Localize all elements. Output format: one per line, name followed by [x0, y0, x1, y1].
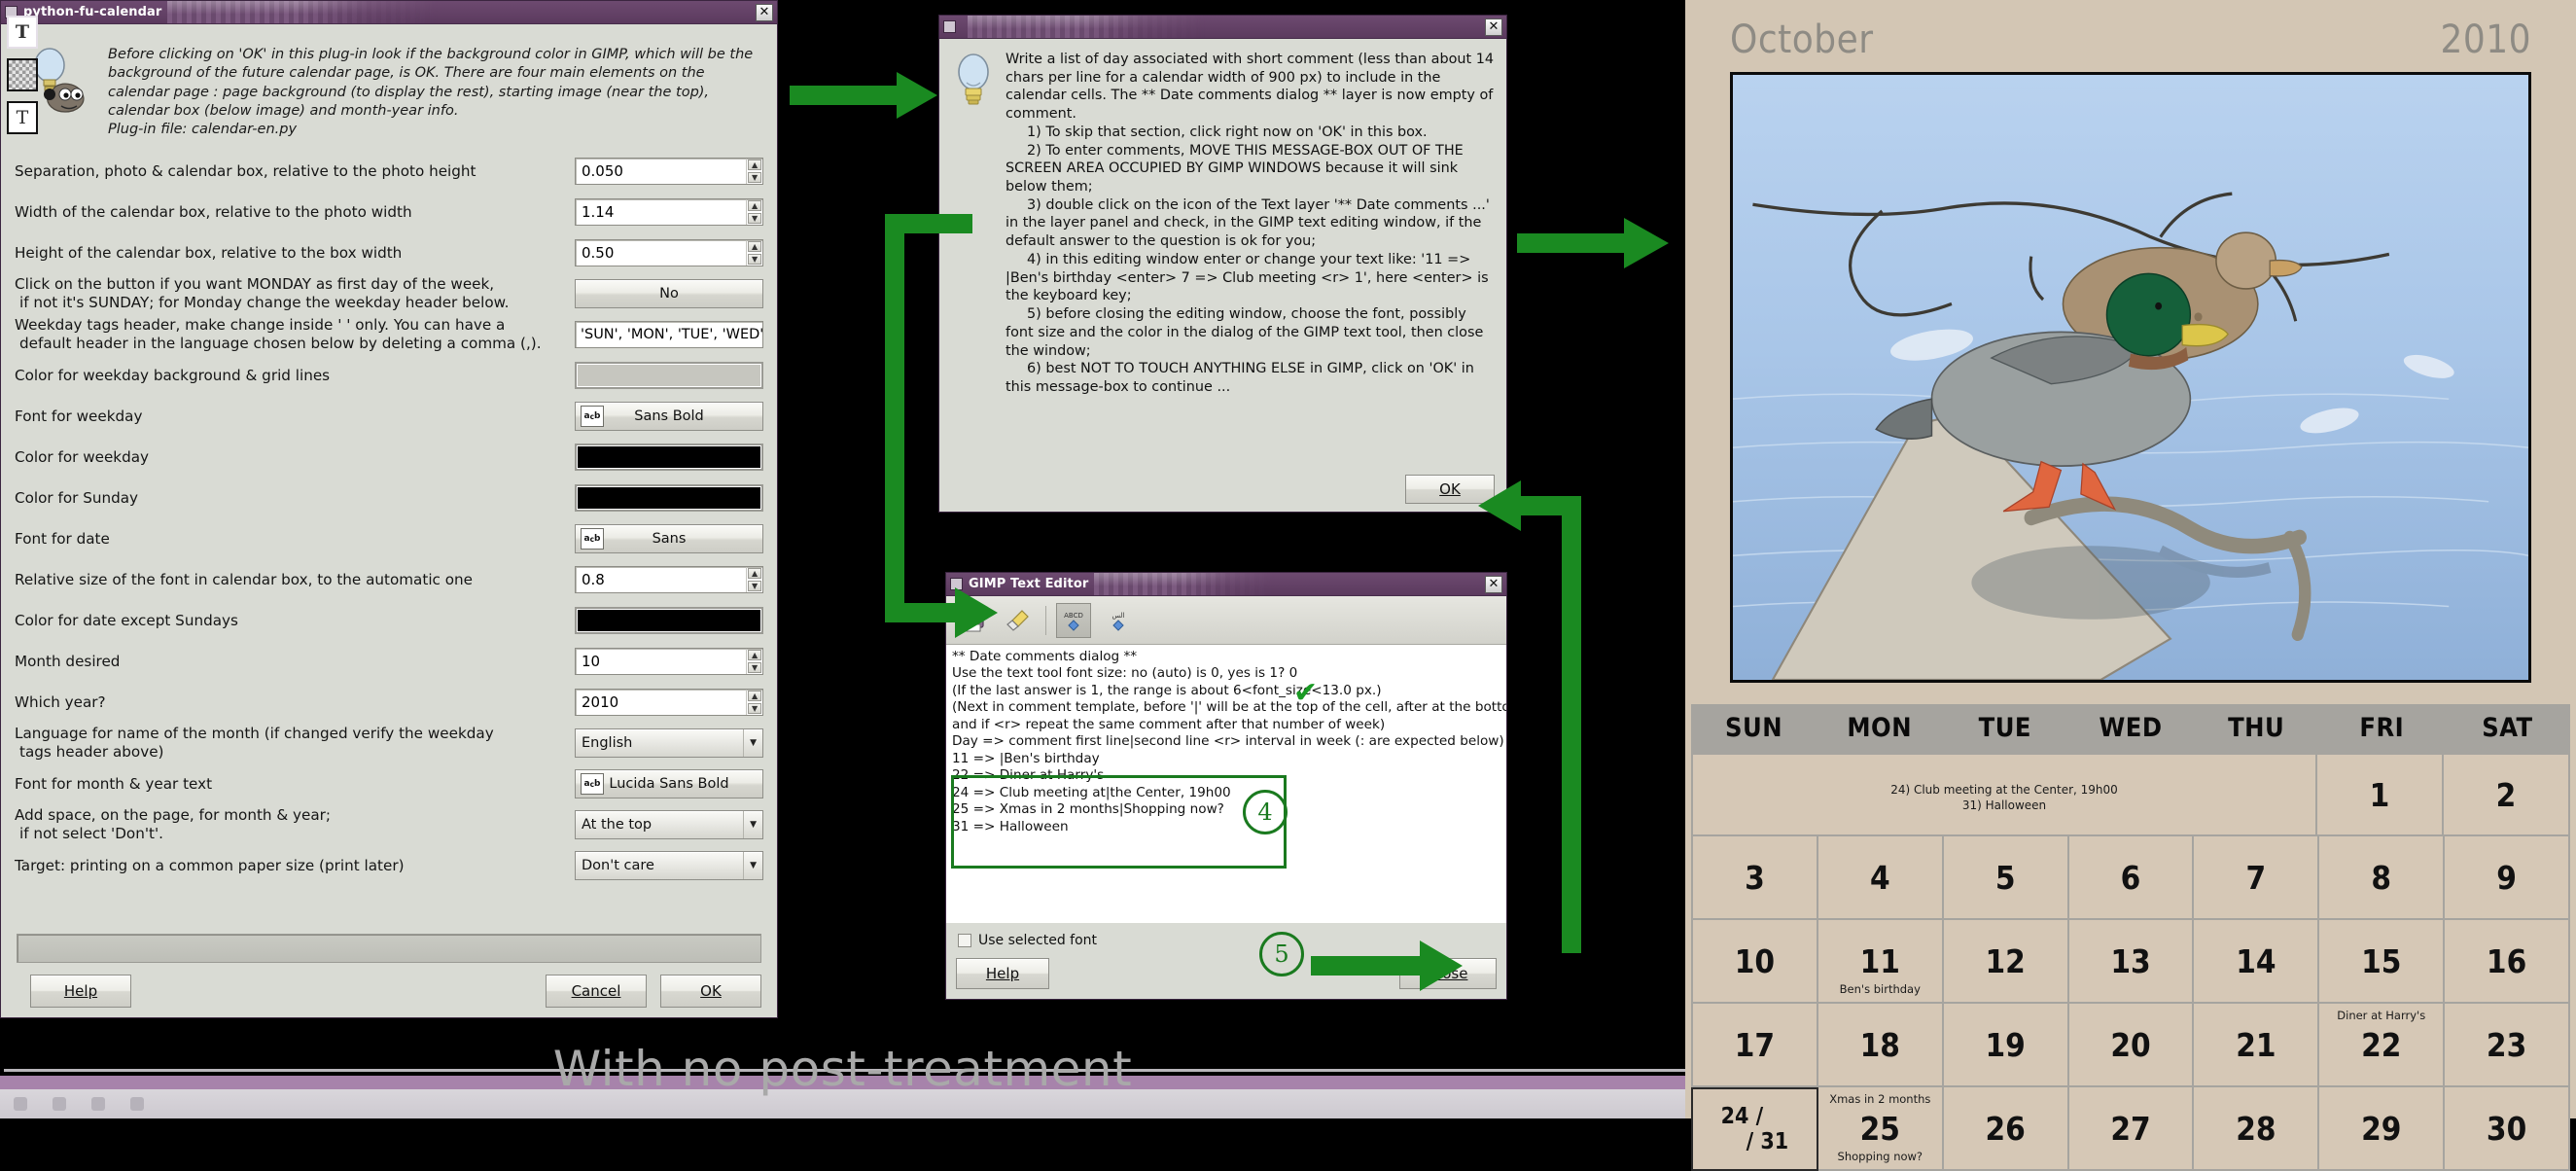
option-label: Click on the button if you want MONDAY a…: [15, 275, 575, 312]
spin-value[interactable]: [576, 690, 746, 715]
calendar-dow-cell: FRI: [2319, 704, 2445, 753]
calendar-day-cell: 10: [1691, 920, 1818, 1004]
option-row: Color for weekday background & grid line…: [15, 357, 763, 394]
option-label: Font for month & year text: [15, 775, 575, 794]
calendar-week-row: 1718192021Diner at Harry's2223: [1691, 1004, 2570, 1087]
calendar-day-number: 21: [2236, 1029, 2276, 1061]
option-row: Height of the calendar box, relative to …: [15, 234, 763, 271]
chevron-down-icon[interactable]: ▼: [743, 811, 757, 838]
figure-caption: With no post-treatment: [0, 1018, 1685, 1118]
calendar-week-row: 1011Ben's birthday1213141516: [1691, 920, 2570, 1004]
use-selected-font-checkbox[interactable]: Use selected font: [956, 929, 1497, 958]
calendar-comment-top: Diner at Harry's: [2321, 1010, 2441, 1022]
text-editor-textarea[interactable]: ** Date comments dialog **Use the text t…: [946, 645, 1506, 923]
option-control[interactable]: ▲▼: [575, 239, 763, 266]
spin-input[interactable]: ▲▼: [575, 689, 763, 716]
message-dialog-text: Write a list of day associated with shor…: [1006, 51, 1495, 469]
plugin-dialog-title: python-fu-calendar: [23, 5, 161, 19]
calendar-day-number: 11: [1860, 945, 1900, 977]
option-label: Which year?: [15, 693, 575, 712]
text-editor-help-button[interactable]: Help: [956, 958, 1049, 989]
calendar-week-row: 24) Club meeting at the Center, 19h0031)…: [1691, 753, 2570, 836]
option-row: Target: printing on a common paper size …: [15, 847, 763, 884]
option-control[interactable]: English▼: [575, 728, 763, 758]
window-menu-icon[interactable]: [943, 20, 956, 33]
editor-line: ** Date comments dialog **: [952, 649, 1500, 665]
font-button[interactable]: acbLucida Sans Bold: [575, 769, 763, 798]
option-control[interactable]: acbSans Bold: [575, 402, 763, 431]
layer-thumbnail-icon: [7, 58, 38, 91]
text-editor-help-label: Help: [986, 965, 1019, 982]
spin-input[interactable]: ▲▼: [575, 239, 763, 266]
editor-line: 25 => Xmas in 2 months|Shopping now?: [952, 801, 1500, 818]
option-row: Language for name of the month (if chang…: [15, 725, 763, 762]
close-icon[interactable]: ✕: [1485, 576, 1502, 593]
spin-input[interactable]: ▲▼: [575, 648, 763, 675]
calendar-dow-cell: TUE: [1942, 704, 2067, 753]
ok-button[interactable]: OK: [660, 975, 761, 1008]
progress-bar: [17, 934, 761, 963]
option-label-line2: if not select 'Don't'.: [15, 825, 565, 843]
message-paragraph: Write a list of day associated with shor…: [1006, 51, 1495, 124]
calendar-day-cell: 29: [2319, 1087, 2445, 1171]
plugin-dialog-titlebar[interactable]: python-fu-calendar ✕: [1, 1, 777, 24]
calendar-day-cell: 8: [2319, 836, 2445, 920]
spin-arrows[interactable]: ▲▼: [746, 567, 762, 592]
spin-down-icon[interactable]: ▼: [748, 662, 761, 673]
option-control[interactable]: [575, 362, 763, 389]
option-label: Language for name of the month (if chang…: [15, 725, 575, 762]
option-control[interactable]: [575, 607, 763, 634]
spin-up-icon[interactable]: ▲: [748, 200, 761, 211]
color-swatch[interactable]: [575, 444, 763, 471]
editor-line: (If the last answer is 1, the range is a…: [952, 683, 1500, 699]
calendar-dow-row: SUNMONTUEWEDTHUFRISAT: [1691, 704, 2570, 753]
lightbulb-icon: [951, 51, 996, 107]
step-5-marker: 5: [1259, 932, 1304, 976]
calendar-day-cell: 14: [2194, 920, 2319, 1004]
calendar-day-number: 30: [2487, 1113, 2526, 1145]
calendar-day-number: 19: [1985, 1029, 2025, 1061]
calendar-day-number: 16: [2487, 945, 2526, 977]
spin-value[interactable]: [576, 159, 746, 184]
clear-text-icon[interactable]: [1001, 603, 1036, 638]
message-paragraph: 4) in this editing window enter or chang…: [1006, 251, 1495, 305]
spin-arrows[interactable]: ▲▼: [746, 199, 762, 225]
option-row: Weekday tags header, make change inside …: [15, 316, 763, 353]
option-control[interactable]: ▲▼: [575, 648, 763, 675]
option-control[interactable]: ▲▼: [575, 158, 763, 185]
plugin-intro-block: Before clicking on 'OK' in this plug-in …: [11, 30, 767, 153]
calendar-day-cell: 9: [2445, 836, 2570, 920]
option-control[interactable]: 'SUN', 'MON', 'TUE', 'WED': [575, 321, 763, 348]
option-control[interactable]: At the top▼: [575, 810, 763, 839]
calendar-day-number: 12: [1985, 945, 2025, 977]
help-button[interactable]: Help: [30, 975, 131, 1008]
editor-line: 31 => Halloween: [952, 819, 1500, 835]
calendar-day-cell: 16: [2445, 920, 2570, 1004]
ltr-direction-icon[interactable]: ABCD: [1056, 603, 1091, 638]
option-row: Month desired▲▼: [15, 643, 763, 680]
spin-up-icon[interactable]: ▲: [748, 691, 761, 701]
help-button-label: Help: [64, 982, 97, 1000]
calendar-day-number: 1: [2370, 779, 2390, 811]
cancel-button-label: Cancel: [572, 982, 621, 1000]
spin-value[interactable]: [576, 240, 746, 266]
calendar-dow-cell: MON: [1817, 704, 1942, 753]
calendar-photo: [1730, 72, 2531, 683]
rtl-direction-icon[interactable]: الس: [1101, 603, 1136, 638]
editor-line: 24 => Club meeting at|the Center, 19h00: [952, 785, 1500, 801]
text-t-icon: T: [9, 103, 36, 132]
spin-down-icon[interactable]: ▼: [748, 172, 761, 183]
option-label: Color for Sunday: [15, 489, 575, 508]
calendar-day-cell: 28: [2194, 1087, 2319, 1171]
calendar-overflow-notes: 24) Club meeting at the Center, 19h0031)…: [1890, 782, 2118, 813]
calendar-dow-cell: WED: [2067, 704, 2193, 753]
toggle-button[interactable]: No: [575, 279, 763, 308]
option-control[interactable]: acbLucida Sans Bold: [575, 769, 763, 798]
font-name: Sans: [653, 531, 687, 547]
color-swatch[interactable]: [575, 362, 763, 389]
calendar-header: October 2010: [1685, 0, 2576, 68]
calendar-day-number: 15: [2361, 945, 2401, 977]
plugin-intro-text: Before clicking on 'OK' in this plug-in …: [108, 44, 761, 139]
editor-line: 22 => Diner at Harry's: [952, 767, 1500, 784]
calendar-grid: SUNMONTUEWEDTHUFRISAT 24) Club meeting a…: [1691, 704, 2570, 1171]
spin-up-icon[interactable]: ▲: [748, 650, 761, 660]
calendar-day-cell: 5: [1944, 836, 2069, 920]
calendar-note-line: 24) Club meeting at the Center, 19h00: [1890, 782, 2118, 798]
calendar-result-page: October 2010: [1685, 0, 2576, 1118]
option-label: Height of the calendar box, relative to …: [15, 244, 575, 263]
calendar-year-label: 2010: [2440, 18, 2531, 62]
calendar-day-cell: 4: [1818, 836, 1944, 920]
option-label: Font for date: [15, 530, 575, 549]
dropdown-value: Don't care: [582, 858, 743, 873]
font-name: Sans Bold: [634, 408, 704, 424]
option-row: Which year?▲▼: [15, 684, 763, 721]
calendar-day-cell: Xmas in 2 months25Shopping now?: [1818, 1087, 1944, 1171]
spin-arrows[interactable]: ▲▼: [746, 690, 762, 715]
calendar-day-cell: 2: [2444, 753, 2570, 836]
calendar-day-number: 5: [1995, 862, 2016, 894]
ok-button-label: OK: [700, 982, 722, 1000]
calendar-day-number: 2: [2496, 779, 2517, 811]
calendar-day-cell: 19: [1944, 1004, 2069, 1087]
option-control[interactable]: ▲▼: [575, 198, 763, 226]
spin-arrows[interactable]: ▲▼: [746, 240, 762, 266]
option-label: Separation, photo & calendar box, relati…: [15, 162, 575, 181]
font-icon: acb: [581, 406, 604, 427]
calendar-day-number: 8: [2371, 862, 2391, 894]
spin-arrows[interactable]: ▲▼: [746, 159, 762, 184]
calendar-week-row: 24 // 31Xmas in 2 months25Shopping now?2…: [1691, 1087, 2570, 1171]
spin-input[interactable]: ▲▼: [575, 198, 763, 226]
spin-up-icon[interactable]: ▲: [748, 241, 761, 252]
calendar-day-cell: 11Ben's birthday: [1818, 920, 1944, 1004]
option-row: Add space, on the page, for month & year…: [15, 806, 763, 843]
titlebar-decoration: [968, 16, 1485, 38]
checkbox-box[interactable]: [958, 934, 971, 947]
calendar-day-number: 20: [2110, 1029, 2150, 1061]
calendar-day-cell: 27: [2069, 1087, 2195, 1171]
option-row: Font for dateacbSans: [15, 520, 763, 557]
svg-text:الس: الس: [1112, 612, 1124, 620]
option-control[interactable]: Don't care▼: [575, 851, 763, 880]
svg-text:ABCD: ABCD: [1064, 612, 1083, 620]
calendar-day-number: 17: [1735, 1029, 1775, 1061]
calendar-day-cell: 26: [1944, 1087, 2069, 1171]
message-paragraph: 5) before closing the editing window, ch…: [1006, 305, 1495, 360]
dropdown-value: English: [582, 735, 743, 751]
option-row: Separation, photo & calendar box, relati…: [15, 153, 763, 190]
calendar-comment-bottom: Ben's birthday: [1820, 983, 1940, 996]
chevron-down-icon[interactable]: ▼: [743, 729, 757, 757]
plugin-dialog-actions: Help Cancel OK: [11, 963, 767, 1017]
option-control[interactable]: No: [575, 279, 763, 308]
option-label: Color for weekday: [15, 448, 575, 467]
spin-value[interactable]: [576, 649, 746, 674]
spin-down-icon[interactable]: ▼: [748, 254, 761, 265]
editor-line: 11 => |Ben's birthday: [952, 751, 1500, 767]
calendar-day-cell: 18: [1818, 1004, 1944, 1087]
editor-line: Use the text tool font size: no (auto) i…: [952, 665, 1500, 682]
text-t-icon: T: [9, 18, 36, 47]
spin-down-icon[interactable]: ▼: [748, 213, 761, 224]
toolbar-separator: [1045, 606, 1046, 635]
calendar-day-number: 23: [2487, 1029, 2526, 1061]
calendar-day-number: 3: [1745, 862, 1765, 894]
option-control[interactable]: acbSans: [575, 524, 763, 553]
option-label: Weekday tags header, make change inside …: [15, 316, 575, 353]
option-label-line2: default header in the language chosen be…: [15, 335, 565, 353]
spin-up-icon[interactable]: ▲: [748, 568, 761, 579]
option-label-line2: tags header above): [15, 743, 565, 762]
calendar-day-cell: 24 // 31: [1691, 1087, 1818, 1171]
calendar-day-cell: 30: [2445, 1087, 2570, 1171]
calendar-day-cell: 7: [2194, 836, 2319, 920]
check-icon: ✔: [1293, 679, 1318, 708]
option-label: Add space, on the page, for month & year…: [15, 806, 575, 843]
calendar-day-number: 22: [2361, 1029, 2401, 1061]
option-row: Color for date except Sundays: [15, 602, 763, 639]
editor-line: and if <r> repeat the same comment after…: [952, 717, 1500, 733]
spin-input[interactable]: ▲▼: [575, 566, 763, 593]
spin-arrows[interactable]: ▲▼: [746, 649, 762, 674]
calendar-day-cell: 1: [2317, 753, 2444, 836]
message-ok-button[interactable]: OK: [1405, 475, 1495, 504]
spin-input[interactable]: ▲▼: [575, 158, 763, 185]
option-row: Font for month & year textacbLucida Sans…: [15, 765, 763, 802]
calendar-day-number-secondary: / 31: [1693, 1129, 1817, 1154]
text-editor-close-button[interactable]: Close: [1399, 958, 1497, 989]
calendar-week-row: 3456789: [1691, 836, 2570, 920]
calendar-day-number: 6: [2121, 862, 2141, 894]
calendar-day-cell: 17: [1691, 1004, 1818, 1087]
text-editor-toolbar[interactable]: ABCD الس: [946, 596, 1506, 645]
spin-down-icon[interactable]: ▼: [748, 581, 761, 591]
calendar-day-number: 29: [2361, 1113, 2401, 1145]
option-control[interactable]: ▲▼: [575, 689, 763, 716]
calendar-month-label: October: [1730, 18, 1874, 62]
editor-line: (Next in comment template, before '|' wi…: [952, 699, 1500, 716]
calendar-day-number: 10: [1735, 945, 1775, 977]
dropdown-value: At the top: [582, 817, 743, 833]
python-fu-calendar-window[interactable]: python-fu-calendar ✕ Before cli: [0, 0, 778, 1018]
plugin-options-form: Separation, photo & calendar box, relati…: [11, 153, 767, 924]
message-paragraph: 1) To skip that section, click right now…: [1006, 124, 1495, 142]
calendar-comment-bottom: Shopping now?: [1820, 1151, 1940, 1163]
font-icon: acb: [581, 773, 604, 795]
dropdown[interactable]: English▼: [575, 728, 763, 758]
font-name: Lucida Sans Bold: [609, 776, 728, 792]
calendar-day-number: 14: [2236, 945, 2276, 977]
calendar-day-cell: 3: [1691, 836, 1818, 920]
text-input[interactable]: 'SUN', 'MON', 'TUE', 'WED': [575, 321, 763, 348]
calendar-day-number: 24 /: [1693, 1104, 1817, 1129]
calendar-comment-top: Xmas in 2 months: [1820, 1093, 1940, 1106]
calendar-week-rows: 24) Club meeting at the Center, 19h0031)…: [1691, 753, 2570, 1171]
message-ok-label: OK: [1439, 480, 1461, 498]
option-label: Color for weekday background & grid line…: [15, 367, 575, 385]
option-row: Font for weekdayacbSans Bold: [15, 398, 763, 435]
option-label: Target: printing on a common paper size …: [15, 857, 575, 875]
calendar-day-cell: 21: [2194, 1004, 2319, 1087]
option-control[interactable]: ▲▼: [575, 566, 763, 593]
titlebar-decoration: [167, 1, 756, 23]
option-row: Color for weekday: [15, 439, 763, 476]
font-button[interactable]: acbSans Bold: [575, 402, 763, 431]
calendar-dow-cell: SUN: [1691, 704, 1817, 753]
color-swatch[interactable]: [575, 484, 763, 512]
editor-line: Day => comment first line|second line <r…: [952, 733, 1500, 750]
color-swatch[interactable]: [575, 607, 763, 634]
close-icon[interactable]: ✕: [756, 4, 773, 21]
dropdown[interactable]: Don't care▼: [575, 851, 763, 880]
option-label: Month desired: [15, 653, 575, 671]
option-label: Font for weekday: [15, 408, 575, 426]
calendar-day-cell: 15: [2319, 920, 2445, 1004]
titlebar-decoration: [1094, 573, 1485, 595]
message-paragraph: 3) double click on the icon of the Text …: [1006, 196, 1495, 251]
message-dialog-titlebar[interactable]: ✕: [939, 16, 1506, 39]
calendar-day-number: 7: [2246, 862, 2267, 894]
option-row: Width of the calendar box, relative to t…: [15, 194, 763, 231]
spin-value[interactable]: [576, 567, 746, 592]
text-editor-titlebar[interactable]: GIMP Text Editor ✕: [946, 573, 1506, 596]
calendar-day-number: 9: [2496, 862, 2517, 894]
calendar-day-number: 27: [2110, 1113, 2150, 1145]
text-layer-icon: T: [7, 16, 38, 49]
load-text-icon[interactable]: [956, 603, 991, 638]
calendar-day-cell: 23: [2445, 1004, 2570, 1087]
option-label: Relative size of the font in calendar bo…: [15, 571, 575, 589]
option-row: Color for Sunday: [15, 479, 763, 516]
calendar-dow-cell: THU: [2194, 704, 2319, 753]
text-layer-icon: T: [7, 101, 38, 134]
font-button[interactable]: acbSans: [575, 524, 763, 553]
calendar-day-cell: Diner at Harry's22: [2319, 1004, 2445, 1087]
cancel-button[interactable]: Cancel: [546, 975, 647, 1008]
calendar-dow-cell: SAT: [2445, 704, 2570, 753]
option-label-line2: if not it's SUNDAY; for Monday change th…: [15, 294, 565, 312]
calendar-note-line: 31) Halloween: [1890, 798, 2118, 813]
date-comments-message-window[interactable]: ✕ Write a list of day associated with sh…: [938, 15, 1507, 513]
calendar-day-number: 28: [2236, 1113, 2276, 1145]
calendar-day-cell: 12: [1944, 920, 2069, 1004]
text-editor-title: GIMP Text Editor: [969, 577, 1088, 591]
calendar-day-cell: 6: [2069, 836, 2195, 920]
chevron-down-icon[interactable]: ▼: [743, 852, 757, 879]
option-label: Width of the calendar box, relative to t…: [15, 203, 575, 222]
option-control[interactable]: [575, 444, 763, 471]
text-editor-close-label: Close: [1429, 965, 1468, 982]
calendar-day-number: 4: [1870, 862, 1890, 894]
close-icon[interactable]: ✕: [1485, 18, 1502, 36]
use-selected-font-label: Use selected font: [978, 933, 1097, 948]
step-4-marker: 4: [1243, 790, 1288, 834]
spin-up-icon[interactable]: ▲: [748, 160, 761, 170]
option-label: Color for date except Sundays: [15, 612, 575, 630]
message-paragraph: 2) To enter comments, MOVE THIS MESSAGE-…: [1006, 142, 1495, 196]
dropdown[interactable]: At the top▼: [575, 810, 763, 839]
calendar-day-number: 18: [1860, 1029, 1900, 1061]
option-row: Relative size of the font in calendar bo…: [15, 561, 763, 598]
spin-down-icon[interactable]: ▼: [748, 703, 761, 714]
font-icon: acb: [581, 528, 604, 550]
window-menu-icon[interactable]: [950, 578, 963, 590]
calendar-day-cell: 24) Club meeting at the Center, 19h0031)…: [1691, 753, 2317, 836]
calendar-day-cell: 13: [2069, 920, 2195, 1004]
gimp-text-editor-window[interactable]: GIMP Text Editor ✕ ABCD: [945, 572, 1507, 1000]
spin-value[interactable]: [576, 199, 746, 225]
option-control[interactable]: [575, 484, 763, 512]
calendar-day-number: 13: [2110, 945, 2150, 977]
message-paragraph: 6) best NOT TO TOUCH ANYTHING ELSE in GI…: [1006, 360, 1495, 396]
calendar-day-number: 26: [1985, 1113, 2025, 1145]
calendar-day-cell: 20: [2069, 1004, 2195, 1087]
option-row: Click on the button if you want MONDAY a…: [15, 275, 763, 312]
calendar-day-number: 25: [1860, 1113, 1900, 1145]
